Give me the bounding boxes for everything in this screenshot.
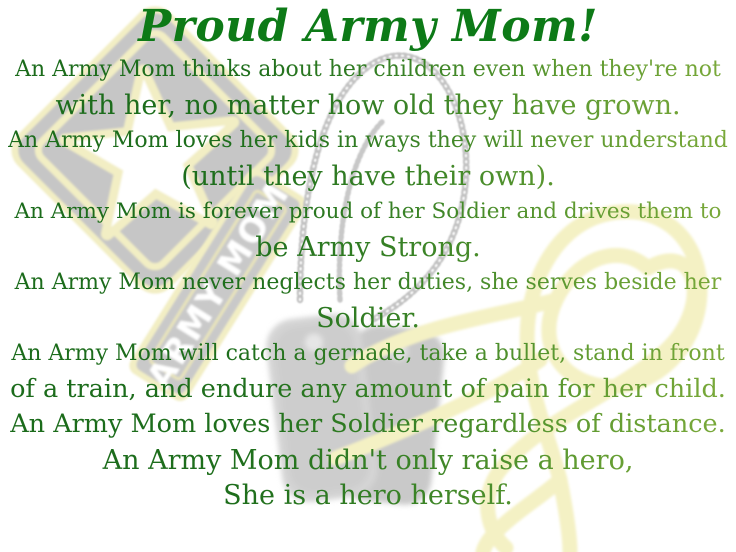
poem-line: An Army Mom didn't only raise a hero, [8, 443, 728, 479]
poem-line: be Army Strong. [8, 230, 728, 266]
army-star-emblem [2, 0, 307, 303]
poem-line: An Army Mom loves her kids in ways they … [8, 123, 728, 159]
army-mom-banner: ARMY MOM [126, 165, 311, 405]
poem-line: An Army Mom loves her Soldier regardless… [8, 407, 728, 443]
background-artwork: ARMY MOM [0, 0, 736, 552]
page-title: Proud Army Mom! [0, 2, 736, 52]
yellow-awareness-ribbon [336, 212, 700, 552]
poem-body: An Army Mom thinks about her children ev… [0, 52, 736, 514]
dog-tags [263, 311, 447, 507]
dog-tag-front [263, 311, 381, 505]
proud-army-mom-poster: ARMY MOM [0, 0, 736, 552]
poem-line: with her, no matter how old they have gr… [8, 88, 728, 124]
poem-line: (until they have their own). [8, 159, 728, 195]
poem-line: Soldier. [8, 301, 728, 337]
army-mom-banner-text: ARMY MOM [140, 175, 299, 396]
poster-text-layer: Proud Army Mom! An Army Mom thinks about… [0, 0, 736, 552]
ball-chain [300, 56, 466, 320]
poem-line: An Army Mom never neglects her duties, s… [8, 265, 728, 301]
poem-line: She is a hero herself. [8, 478, 728, 514]
poem-line: An Army Mom is forever proud of her Sold… [8, 194, 728, 230]
dog-tag-back [337, 323, 447, 508]
poem-line: of a train, and endure any amount of pai… [8, 372, 728, 408]
poem-line: An Army Mom will catch a gernade, take a… [8, 336, 728, 372]
poem-line: An Army Mom thinks about her children ev… [8, 52, 728, 88]
